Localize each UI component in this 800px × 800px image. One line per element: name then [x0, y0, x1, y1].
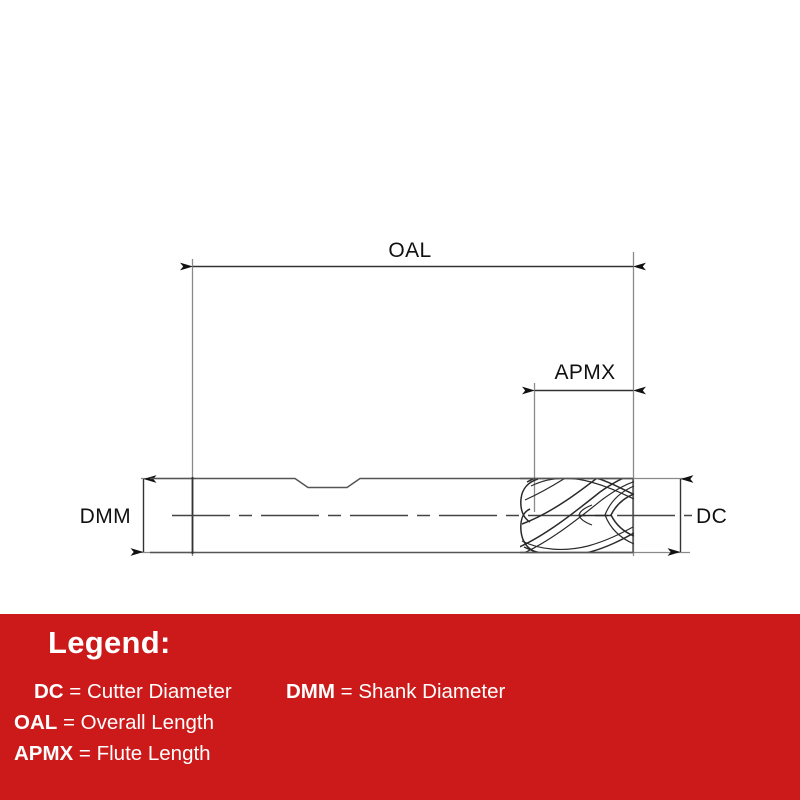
legend-item-dmm: DMM = Shank Diameter	[286, 676, 505, 707]
legend-code-dmm: DMM	[286, 680, 335, 703]
legend-item-apmx: APMX = Flute Length	[14, 738, 211, 769]
dimension-dmm: DMM	[80, 479, 144, 552]
body-top-edge	[150, 479, 633, 488]
apmx-label: APMX	[554, 361, 615, 384]
legend-desc-dmm: Shank Diameter	[358, 680, 505, 703]
legend-equals-oal: =	[57, 711, 80, 734]
legend-row: APMX = Flute Length	[14, 738, 794, 769]
legend-row: OAL = Overall Length	[14, 707, 794, 738]
page-root: OAL APMX DMM DC	[0, 0, 800, 800]
technical-drawing: OAL APMX DMM DC	[0, 0, 800, 614]
legend-equals-dc: =	[64, 680, 87, 703]
legend-code-oal: OAL	[14, 711, 57, 734]
legend-item-dc: DC = Cutter Diameter	[14, 676, 286, 707]
oal-label: OAL	[388, 239, 431, 262]
flute-helix-3	[525, 455, 600, 500]
dc-label: DC	[696, 505, 727, 528]
legend-item-oal: OAL = Overall Length	[14, 707, 214, 738]
legend-title: Legend:	[48, 626, 171, 660]
legend-band: Legend: DC = Cutter Diameter DMM = Shank…	[0, 614, 800, 800]
legend-code-dc: DC	[34, 680, 64, 703]
flute-land-bottom-b	[522, 527, 633, 549]
flute-section	[517, 455, 638, 556]
legend-row: DC = Cutter Diameter DMM = Shank Diamete…	[14, 676, 794, 707]
legend-equals-apmx: =	[73, 742, 96, 765]
dmm-label: DMM	[80, 505, 131, 528]
legend-desc-oal: Overall Length	[81, 711, 214, 734]
end-mill-drawing-svg: OAL APMX DMM DC	[0, 0, 800, 614]
dimension-apmx: APMX	[535, 361, 633, 391]
legend-rows: DC = Cutter Diameter DMM = Shank Diamete…	[14, 676, 794, 769]
dimension-oal: OAL	[193, 239, 633, 267]
legend-desc-apmx: Flute Length	[97, 742, 211, 765]
legend-desc-dc: Cutter Diameter	[87, 680, 232, 703]
legend-code-apmx: APMX	[14, 742, 73, 765]
legend-equals-dmm: =	[335, 680, 358, 703]
